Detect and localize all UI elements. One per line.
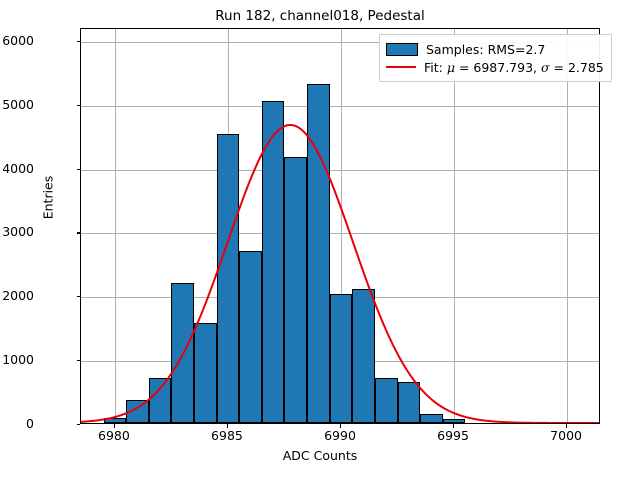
chart-title: Run 182, channel018, Pedestal xyxy=(0,8,640,24)
gaussian-fit-curve xyxy=(81,29,599,423)
y-tick-label-0: 0 xyxy=(0,416,34,431)
legend: Samples: RMS=2.7 Fit: μ = 6987.793, σ = … xyxy=(379,34,612,82)
y-tick-label-6000: 6000 xyxy=(0,33,34,48)
fit-path xyxy=(81,125,599,423)
y-tick-label-5000: 5000 xyxy=(0,97,34,112)
figure-canvas: Run 182, channel018, Pedestal 0100020003… xyxy=(0,0,640,480)
x-tick-mark-6985 xyxy=(227,424,228,428)
y-tick-label-3000: 3000 xyxy=(0,224,34,239)
sigma-symbol: σ xyxy=(541,60,550,75)
legend-item-samples: Samples: RMS=2.7 xyxy=(386,40,604,58)
legend-patch-icon xyxy=(386,43,418,56)
x-tick-label-6980: 6980 xyxy=(74,428,154,443)
y-tick-mark-6000 xyxy=(77,41,81,42)
x-tick-label-6985: 6985 xyxy=(187,428,267,443)
x-tick-label-7000: 7000 xyxy=(526,428,606,443)
x-axis-label: ADC Counts xyxy=(0,448,640,463)
sigma-value: 2.785 xyxy=(568,60,604,75)
x-tick-mark-6980 xyxy=(114,424,115,428)
x-tick-mark-6995 xyxy=(453,424,454,428)
y-tick-mark-3000 xyxy=(77,232,81,233)
y-tick-mark-0 xyxy=(77,424,81,425)
y-tick-label-2000: 2000 xyxy=(0,288,34,303)
y-tick-mark-2000 xyxy=(77,296,81,297)
y-axis-label: Entries xyxy=(41,128,56,268)
x-tick-label-6995: 6995 xyxy=(413,428,493,443)
legend-label-fit: Fit: μ = 6987.793, σ = 2.785 xyxy=(424,60,604,75)
y-tick-label-4000: 4000 xyxy=(0,161,34,176)
x-tick-mark-7000 xyxy=(566,424,567,428)
legend-item-fit: Fit: μ = 6987.793, σ = 2.785 xyxy=(386,58,604,76)
mu-symbol: μ xyxy=(447,60,455,75)
plot-inner xyxy=(81,29,599,423)
plot-area xyxy=(80,28,600,424)
y-tick-mark-5000 xyxy=(77,105,81,106)
legend-label-samples: Samples: RMS=2.7 xyxy=(426,42,545,57)
mu-value: 6987.793 xyxy=(473,60,533,75)
x-tick-label-6990: 6990 xyxy=(300,428,380,443)
y-tick-label-1000: 1000 xyxy=(0,352,34,367)
x-tick-mark-6990 xyxy=(340,424,341,428)
y-tick-mark-1000 xyxy=(77,360,81,361)
y-tick-mark-4000 xyxy=(77,169,81,170)
legend-line-icon xyxy=(386,66,416,68)
